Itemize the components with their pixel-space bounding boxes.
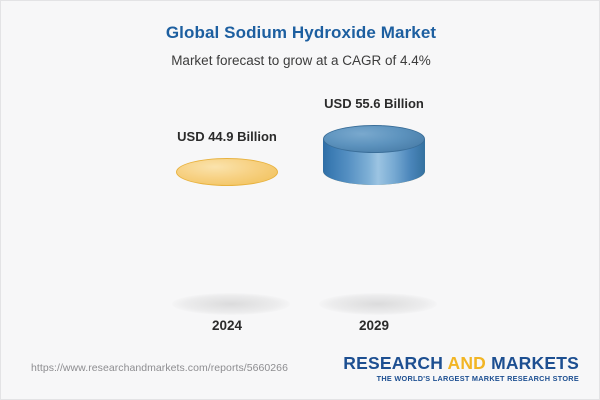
bar-bottom-cap-2024 <box>176 292 278 320</box>
logo-tagline: THE WORLD'S LARGEST MARKET RESEARCH STOR… <box>343 374 579 383</box>
bar-category-label-2029: 2029 <box>274 318 474 333</box>
bar-cylinder-2024 <box>176 158 278 306</box>
bar-body-2024 <box>176 172 278 292</box>
chart-plot-area: USD 44.9 Billion 2024 USD 55.6 Billion 2… <box>1 1 600 346</box>
bar-top-cap-2029 <box>323 125 425 153</box>
bar-cylinder-2029-growth <box>323 125 425 185</box>
logo-word-markets: MARKETS <box>491 353 579 373</box>
bar-value-label-2029: USD 55.6 Billion <box>274 96 474 111</box>
bar-top-cap-2024 <box>176 158 278 186</box>
bar-blue-bottom-2029 <box>323 157 425 185</box>
bar-bottom-cap-2029 <box>323 292 425 320</box>
logo-word-and: AND <box>447 353 486 373</box>
bar-value-label-2024: USD 44.9 Billion <box>127 129 327 144</box>
footer: https://www.researchandmarkets.com/repor… <box>1 346 600 400</box>
report-url-link[interactable]: https://www.researchandmarkets.com/repor… <box>31 362 288 374</box>
research-and-markets-logo[interactable]: RESEARCH AND MARKETS THE WORLD'S LARGEST… <box>343 354 579 383</box>
logo-word-research: RESEARCH <box>343 353 443 373</box>
chart-canvas: Global Sodium Hydroxide Market Market fo… <box>0 0 600 400</box>
logo-wordmark: RESEARCH AND MARKETS <box>343 354 579 372</box>
bar-body-yellow-2029 <box>323 171 425 292</box>
